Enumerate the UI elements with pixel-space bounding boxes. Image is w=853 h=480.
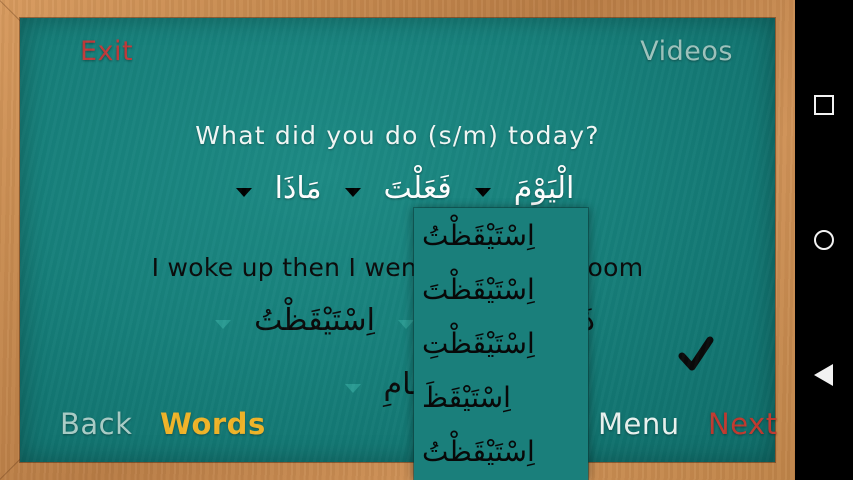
question-arabic-word-2[interactable]: فَعَلْتَ — [380, 170, 456, 208]
chalkboard: Exit Videos What did you do (s/m) today?… — [20, 18, 775, 462]
word-options-dropdown[interactable]: اِسْتَيْقَظْتُ اِسْتَيْقَظْتَ اِسْتَيْقَ… — [414, 208, 588, 480]
back-button[interactable]: Back — [60, 410, 132, 439]
question-dropdown-caret-2[interactable] — [345, 188, 361, 197]
question-arabic-word-3[interactable]: الْيَوْمَ — [510, 170, 579, 208]
back-nav-button[interactable] — [795, 346, 853, 404]
answer-arabic-word-1[interactable]: اِسْتَيْقَظْتُ — [250, 302, 379, 340]
screen: Exit Videos What did you do (s/m) today?… — [0, 0, 853, 480]
dropdown-option[interactable]: اِسْتَيْقَظَ — [414, 370, 588, 424]
question-arabic-row: مَاذَا فَعَلْتَ الْيَوْمَ — [20, 170, 775, 208]
question-english-text: What did you do (s/m) today? — [20, 121, 775, 150]
android-navigation-bar — [795, 0, 853, 480]
exit-button[interactable]: Exit — [80, 38, 133, 65]
home-button[interactable] — [795, 211, 853, 269]
menu-button[interactable]: Menu — [598, 410, 680, 439]
square-icon — [814, 95, 834, 115]
answer-english-text: I woke up then I went to the bathroom — [20, 253, 775, 282]
app-viewport: Exit Videos What did you do (s/m) today?… — [0, 0, 795, 480]
answer-arabic-row-2: الْحَمَّامِ — [20, 366, 775, 404]
words-button[interactable]: Words — [160, 410, 266, 439]
question-dropdown-caret-1[interactable] — [236, 188, 252, 197]
answer-arabic-row-1: اِسْتَيْقَظْتُ ثُمَّ ذَهَبْتُ — [20, 302, 775, 340]
triangle-left-icon — [814, 364, 833, 386]
answer-dropdown-caret-4[interactable] — [345, 384, 361, 393]
dropdown-option[interactable]: اِسْتَيْقَظْتُ — [414, 208, 588, 262]
answer-dropdown-caret-1[interactable] — [215, 320, 231, 329]
circle-icon — [814, 230, 834, 250]
question-dropdown-caret-3[interactable] — [475, 188, 491, 197]
question-arabic-word-1[interactable]: مَاذَا — [271, 170, 326, 208]
dropdown-option[interactable]: اِسْتَيْقَظْتُ — [414, 424, 588, 478]
answer-dropdown-caret-2[interactable] — [398, 320, 414, 329]
check-mark-icon[interactable] — [672, 330, 720, 378]
recents-button[interactable] — [795, 76, 853, 134]
next-button[interactable]: Next — [708, 410, 778, 439]
dropdown-option[interactable]: اِسْتَيْقَظْتِ — [414, 316, 588, 370]
dropdown-option[interactable]: اِسْتَيْقَظْتَ — [414, 262, 588, 316]
videos-button[interactable]: Videos — [640, 38, 733, 65]
